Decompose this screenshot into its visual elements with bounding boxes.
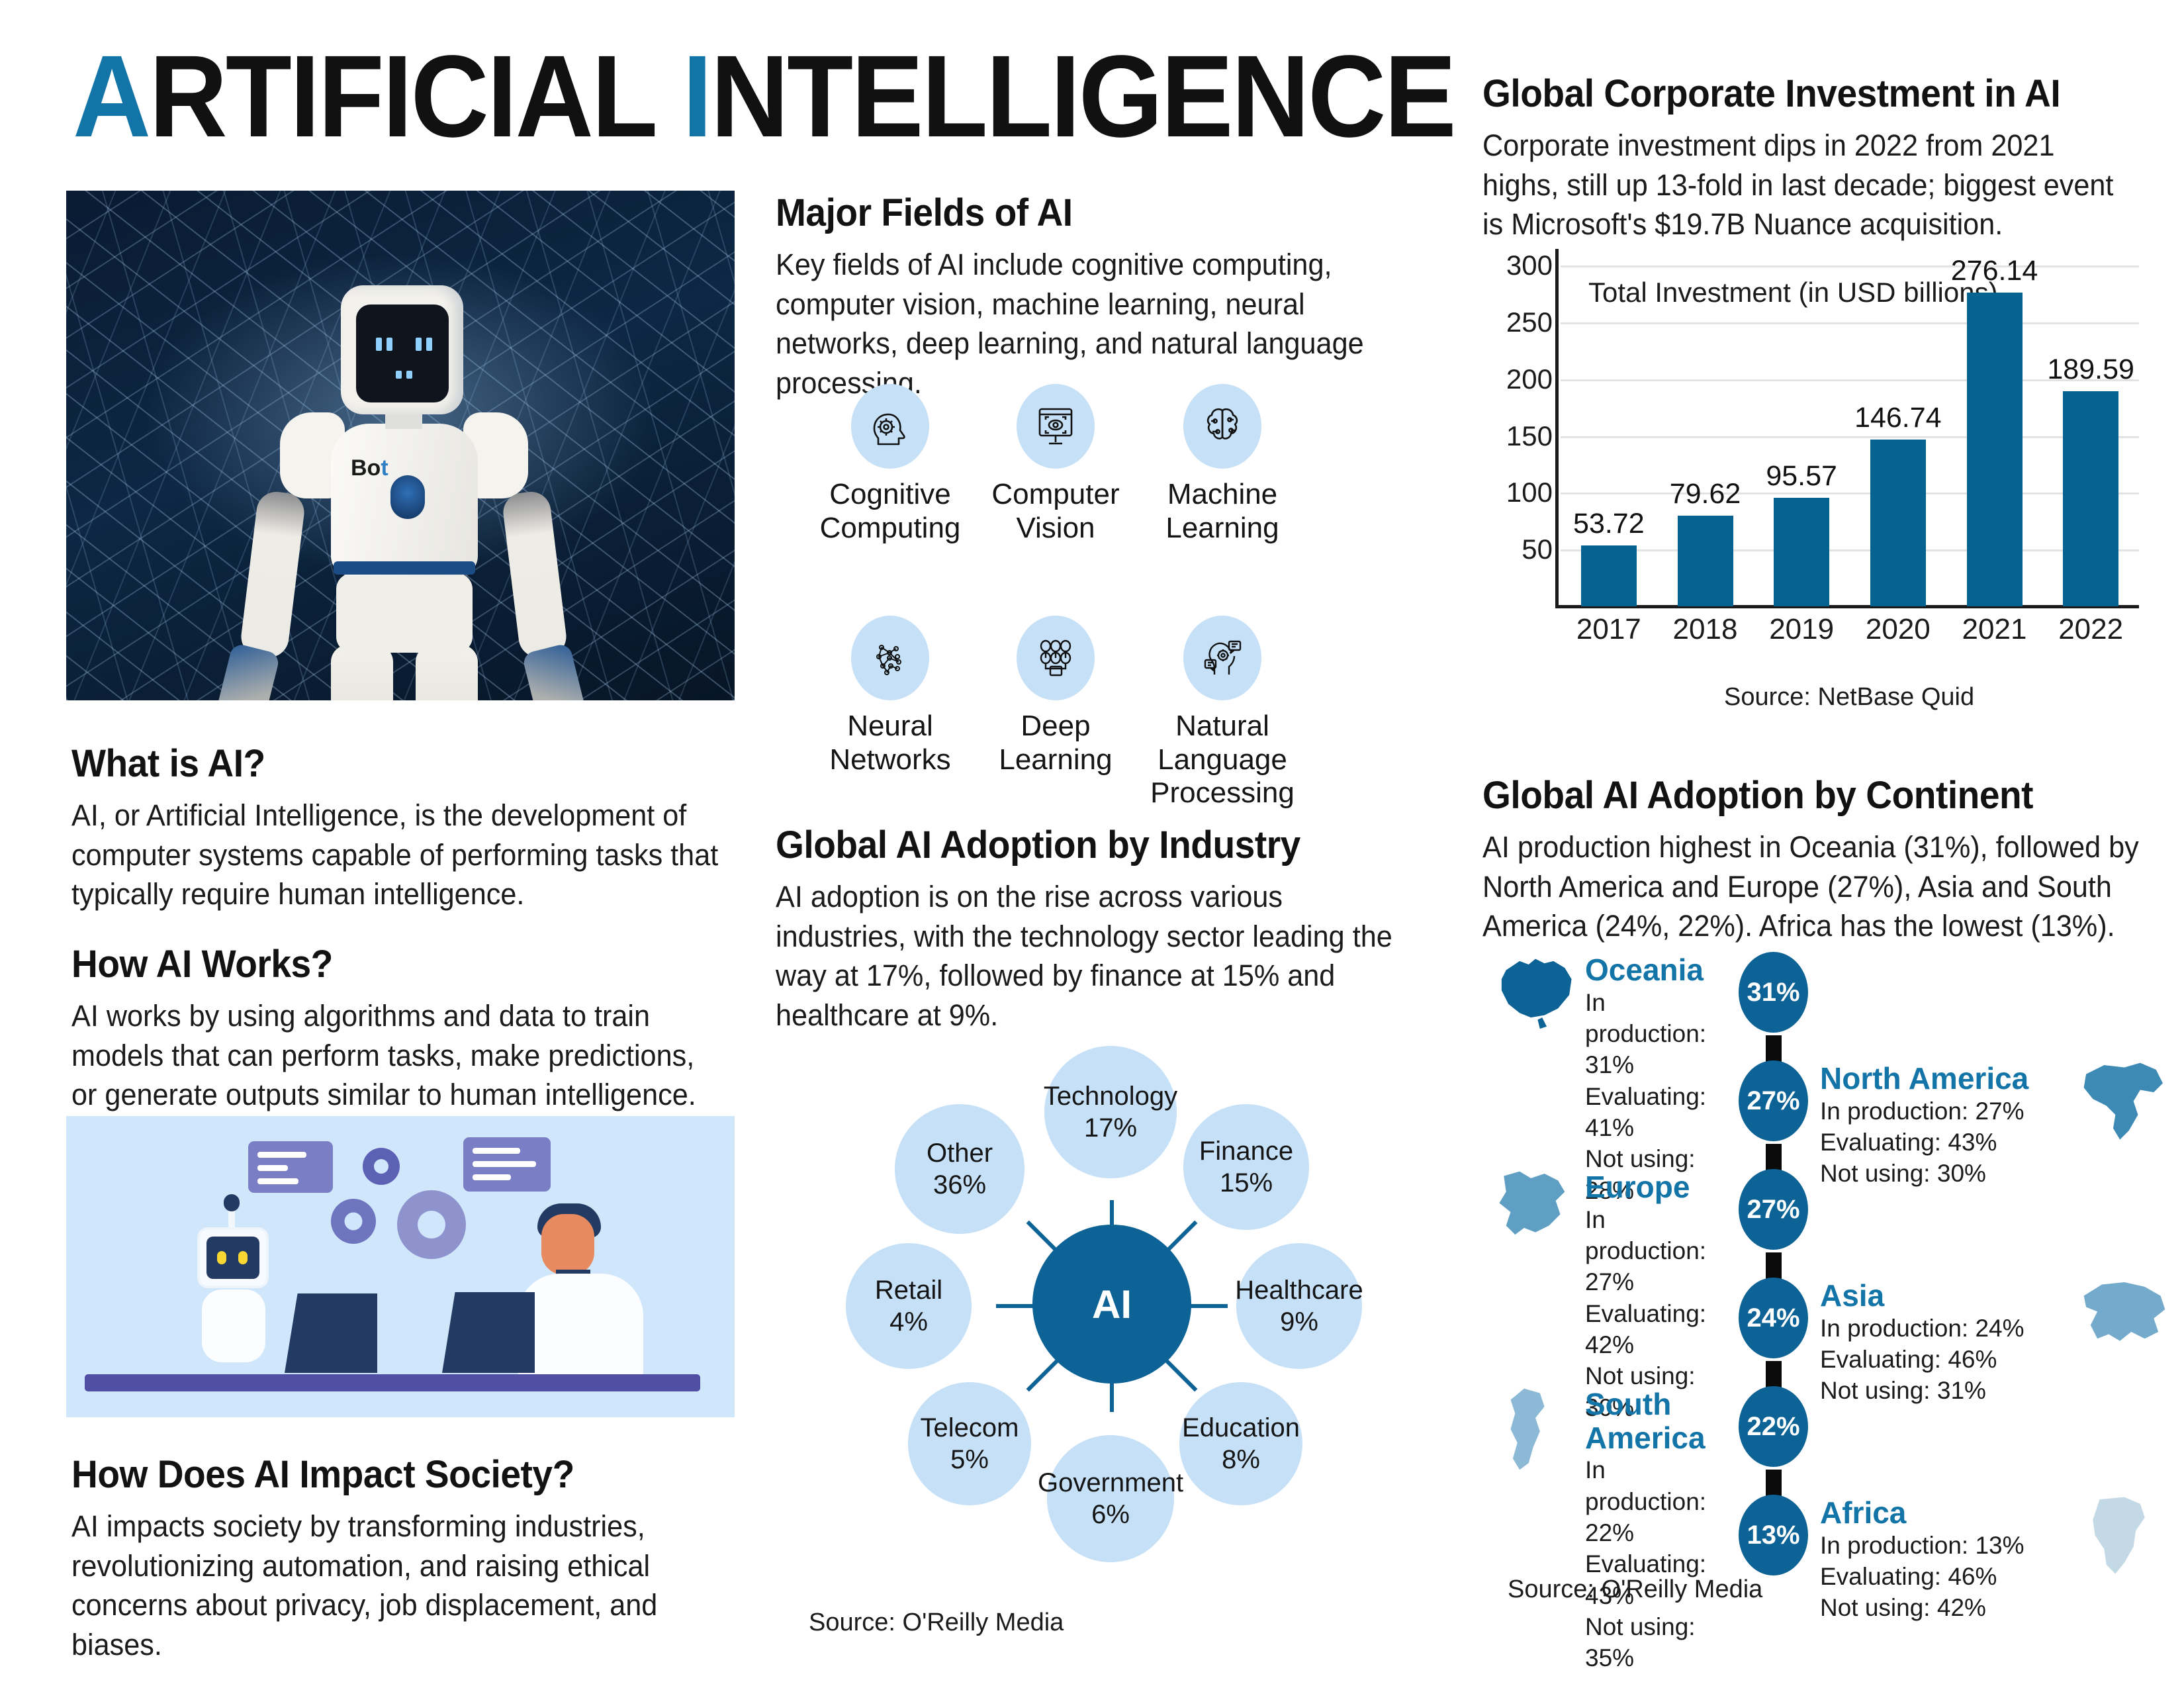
continent-stat-not-using: Not using: 30% — [1820, 1158, 2105, 1189]
bar-value-label: 276.14 — [1929, 255, 2061, 287]
badge-value: 22% — [1747, 1412, 1799, 1442]
x-axis-tick: 2022 — [2025, 613, 2157, 646]
industry-heading: Global AI Adoption by Industry — [776, 824, 1411, 867]
field-label: Neural Networks — [807, 710, 973, 776]
badge-value: 24% — [1747, 1303, 1799, 1333]
robot-hand-right — [522, 643, 586, 700]
continent-stat-evaluating: Evaluating: 41% — [1585, 1081, 1731, 1144]
neural-network-icon — [851, 616, 929, 700]
title-rest-2: NTELLIGENCE — [711, 32, 1455, 162]
industry-node-retail[interactable]: Retail 4% — [846, 1243, 972, 1369]
bar-value-label: 189.59 — [2025, 353, 2157, 386]
continent-info-africa: AfricaIn production: 13%Evaluating: 46%N… — [1820, 1496, 2105, 1624]
grid-line — [1561, 549, 2139, 551]
continent-heading: Global AI Adoption by Continent — [1482, 774, 2136, 817]
robot-eye-right-icon — [238, 1251, 248, 1264]
page-title: ARTIFICIAL INTELLIGENCE — [73, 38, 1455, 155]
major-fields-body: Key fields of AI include cognitive compu… — [776, 245, 1418, 403]
laptop-right-icon — [442, 1292, 535, 1373]
gear-medium-icon — [331, 1199, 376, 1244]
robot-eye-left-icon — [217, 1251, 226, 1264]
wheel-hub-ai[interactable]: AI — [1032, 1225, 1191, 1383]
y-axis-tick: 150 — [1473, 420, 1553, 452]
continent-stat-evaluating: Evaluating: 46% — [1820, 1344, 2105, 1375]
field-label: Machine Learning — [1140, 478, 1305, 545]
continent-badge-oceania[interactable]: 31% — [1739, 952, 1808, 1033]
illustration-robot-face — [206, 1237, 259, 1279]
field-label: Cognitive Computing — [807, 478, 973, 545]
continent-badge-africa[interactable]: 13% — [1739, 1495, 1808, 1575]
continent-name: Europe — [1585, 1170, 1731, 1204]
badge-value: 13% — [1747, 1521, 1799, 1550]
continent-badge-europe[interactable]: 27% — [1739, 1169, 1808, 1250]
layered-nodes-icon — [1017, 616, 1095, 700]
node-label: Other — [927, 1137, 993, 1169]
investment-source: Source: NetBase Quid — [1724, 683, 1974, 712]
continent-name: South America — [1585, 1387, 1731, 1454]
bar-2018[interactable] — [1678, 516, 1733, 606]
badge-value: 27% — [1747, 1195, 1799, 1225]
title-highlight-i: I — [682, 32, 711, 162]
y-axis-tick: 100 — [1473, 477, 1553, 508]
industry-node-healthcare[interactable]: Healthcare 9% — [1236, 1243, 1362, 1369]
australia-map-icon — [1486, 945, 1585, 1045]
robot-face-screen — [356, 305, 449, 402]
field-label: Natural Language Processing — [1140, 710, 1305, 810]
field-cognitive-computing[interactable]: Cognitive Computing — [807, 384, 973, 545]
monitor-eye-icon — [1017, 384, 1095, 469]
node-label: Retail — [875, 1274, 942, 1306]
node-label: Technology — [1044, 1080, 1177, 1112]
bar-value-label: 146.74 — [1832, 402, 1964, 434]
bar-value-label: 95.57 — [1735, 460, 1868, 492]
investment-heading: Global Corporate Investment in AI — [1482, 73, 2130, 115]
robot-arm-right — [501, 490, 569, 660]
ai-collaboration-illustration — [66, 1116, 735, 1417]
industry-section-header: Global AI Adoption by Industry AI adopti… — [776, 824, 1444, 1035]
grid-line — [1561, 322, 2139, 324]
how-ai-works-heading: How AI Works? — [71, 943, 719, 986]
industry-node-education[interactable]: Education 8% — [1179, 1382, 1302, 1505]
europe-map-icon — [1486, 1162, 1585, 1262]
node-value: 17% — [1084, 1112, 1137, 1144]
continent-name: Oceania — [1585, 953, 1731, 987]
gear-large-icon — [397, 1190, 466, 1259]
robot-bot-label: Bot — [351, 455, 388, 481]
continent-chain-diagram: 31%OceaniaIn production: 31%Evaluating: … — [1476, 947, 2171, 1615]
robot-leg-left — [331, 645, 393, 700]
field-neural-networks[interactable]: Neural Networks — [807, 616, 973, 776]
node-value: 9% — [1280, 1306, 1318, 1338]
continent-stat-in-production: In production: 24% — [1820, 1313, 2105, 1344]
chat-bubble-right-icon — [463, 1137, 551, 1192]
node-value: 8% — [1222, 1444, 1260, 1476]
field-natural-language-processing[interactable]: Natural Language Processing — [1140, 616, 1305, 810]
investment-section-header: Global Corporate Investment in AI Corpor… — [1482, 73, 2164, 244]
how-ai-works-body: AI works by using algorithms and data to… — [71, 996, 726, 1115]
continent-stat-evaluating: Evaluating: 43% — [1820, 1127, 2105, 1158]
bar-2017[interactable] — [1581, 545, 1637, 606]
person-head — [541, 1214, 594, 1275]
major-fields-section: Major Fields of AI Key fields of AI incl… — [776, 192, 1444, 403]
node-value: 5% — [950, 1444, 989, 1476]
continent-stat-in-production: In production: 13% — [1820, 1530, 2105, 1561]
bar-2020[interactable] — [1870, 440, 1926, 606]
node-value: 6% — [1091, 1499, 1130, 1530]
continent-stat-in-production: In production: 31% — [1585, 987, 1731, 1081]
robot-arm-left — [239, 490, 306, 660]
laptop-left-icon — [285, 1293, 377, 1373]
brain-circuit-icon — [1183, 384, 1261, 469]
continent-section-header: Global AI Adoption by Continent AI produ… — [1482, 774, 2171, 946]
grid-line — [1561, 436, 2139, 438]
investment-bar-chart: Total Investment (in USD billions) 53.72… — [1482, 246, 2144, 670]
continent-info-north-america: North AmericaIn production: 27%Evaluatin… — [1820, 1062, 2105, 1190]
node-label: Education — [1182, 1412, 1300, 1444]
node-value: 36% — [933, 1169, 986, 1201]
bar-2019[interactable] — [1774, 498, 1829, 606]
what-is-ai-section: What is AI? AI, or Artificial Intelligen… — [71, 743, 753, 914]
continent-stat-not-using: Not using: 42% — [1820, 1592, 2105, 1623]
person-body — [518, 1274, 643, 1377]
north-america-map-icon — [2075, 1054, 2174, 1153]
node-value: 4% — [889, 1306, 928, 1338]
continent-badge-north-america[interactable]: 27% — [1739, 1060, 1808, 1141]
what-is-ai-heading: What is AI? — [71, 743, 719, 785]
bar-2021[interactable] — [1967, 293, 2023, 606]
industry-node-telecom[interactable]: Telecom 5% — [908, 1382, 1031, 1505]
robot-power-button-icon — [390, 475, 425, 519]
y-axis-tick: 250 — [1473, 306, 1553, 338]
continent-name: Africa — [1820, 1496, 2105, 1530]
africa-map-icon — [2075, 1488, 2174, 1587]
robot-belt — [334, 561, 475, 575]
illustration-robot-body — [202, 1289, 265, 1362]
industry-wheel-diagram: AI Technology 17% Finance 15% Healthcare… — [814, 1039, 1410, 1569]
continent-stat-in-production: In production: 22% — [1585, 1454, 1731, 1548]
robot-photo: Bot — [66, 191, 735, 700]
industry-source: Source: O'Reilly Media — [809, 1609, 1064, 1637]
industry-body: AI adoption is on the rise across variou… — [776, 877, 1418, 1035]
continent-info-asia: AsiaIn production: 24%Evaluating: 46%Not… — [1820, 1279, 2105, 1407]
impact-heading: How Does AI Impact Society? — [71, 1454, 738, 1496]
badge-value: 27% — [1747, 1086, 1799, 1116]
investment-body: Corporate investment dips in 2022 from 2… — [1482, 126, 2137, 245]
industry-node-technology[interactable]: Technology 17% — [1044, 1046, 1177, 1178]
south-america-map-icon — [1486, 1380, 1585, 1479]
gear-small-icon — [363, 1148, 400, 1185]
node-label: Healthcare — [1235, 1274, 1363, 1306]
bar-2022[interactable] — [2063, 391, 2118, 606]
robot-hip — [336, 573, 473, 653]
chat-bubble-left-icon — [248, 1141, 333, 1193]
node-label: Government — [1038, 1467, 1183, 1499]
field-machine-learning[interactable]: Machine Learning — [1140, 384, 1305, 545]
continent-stat-evaluating: Evaluating: 42% — [1585, 1298, 1731, 1361]
head-gear-icon — [851, 384, 929, 469]
field-deep-learning[interactable]: Deep Learning — [973, 616, 1138, 776]
title-highlight-a: A — [73, 32, 149, 162]
field-label: Computer Vision — [973, 478, 1138, 545]
asia-map-icon — [2075, 1271, 2174, 1370]
continent-name: North America — [1820, 1062, 2105, 1096]
head-chat-icon — [1183, 616, 1261, 700]
robot-antenna-tip — [224, 1194, 240, 1211]
badge-value: 31% — [1747, 978, 1799, 1008]
field-label: Deep Learning — [973, 710, 1138, 776]
impact-body: AI impacts society by transforming indus… — [71, 1507, 745, 1665]
continent-source: Source: O'Reilly Media — [1508, 1575, 1762, 1604]
bar-value-label: 53.72 — [1543, 508, 1675, 540]
continent-stat-in-production: In production: 27% — [1820, 1096, 2105, 1127]
y-axis — [1555, 249, 1559, 606]
title-rest-1: RTIFICIAL — [149, 32, 682, 162]
continent-badge-asia[interactable]: 24% — [1739, 1278, 1808, 1358]
hub-label: AI — [1092, 1282, 1132, 1327]
how-ai-works-section: How AI Works? AI works by using algorith… — [71, 943, 753, 1115]
continent-stat-in-production: In production: 27% — [1585, 1204, 1731, 1298]
field-computer-vision[interactable]: Computer Vision — [973, 384, 1138, 545]
plot-area: 53.7279.6295.57146.74276.14189.59 — [1561, 254, 2139, 606]
industry-node-other[interactable]: Other 36% — [895, 1104, 1024, 1234]
y-axis-tick: 50 — [1473, 534, 1553, 565]
y-axis-tick: 200 — [1473, 363, 1553, 395]
impact-section: How Does AI Impact Society? AI impacts s… — [71, 1454, 773, 1665]
continent-stat-evaluating: Evaluating: 46% — [1820, 1561, 2105, 1592]
node-label: Finance — [1199, 1135, 1293, 1167]
continent-stat-not-using: Not using: 35% — [1585, 1611, 1731, 1674]
major-fields-heading: Major Fields of AI — [776, 192, 1411, 234]
industry-node-government[interactable]: Government 6% — [1047, 1435, 1174, 1562]
continent-stat-not-using: Not using: 31% — [1820, 1375, 2105, 1406]
what-is-ai-body: AI, or Artificial Intelligence, is the d… — [71, 796, 726, 915]
infographic-page: ARTIFICIAL INTELLIGENCE Bot What is AI? … — [0, 0, 2184, 1688]
continent-body: AI production highest in Oceania (31%), … — [1482, 827, 2143, 947]
continent-name: Asia — [1820, 1279, 2105, 1313]
desk — [85, 1374, 700, 1391]
robot-leg-right — [416, 645, 478, 700]
node-label: Telecom — [921, 1412, 1019, 1444]
continent-badge-south-america[interactable]: 22% — [1739, 1386, 1808, 1467]
industry-node-finance[interactable]: Finance 15% — [1183, 1104, 1309, 1230]
y-axis-tick: 300 — [1473, 250, 1553, 281]
node-value: 15% — [1220, 1167, 1273, 1199]
